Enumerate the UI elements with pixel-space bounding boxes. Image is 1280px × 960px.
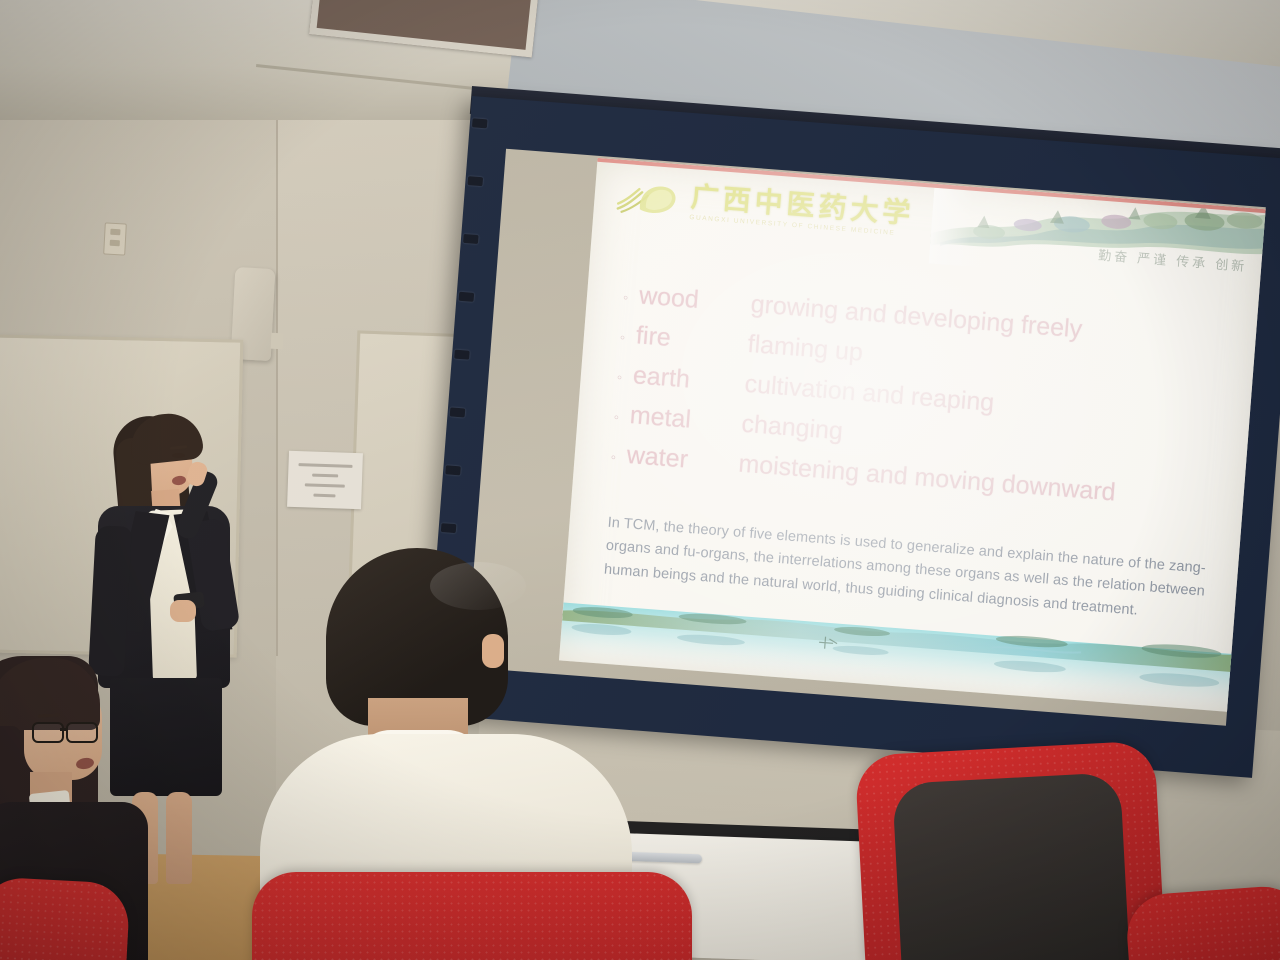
bullet-marker-icon: ◦ (610, 450, 627, 466)
notice-text-line (298, 463, 352, 468)
eyeglass-lens-left (32, 722, 64, 743)
wall-notice-sign (287, 451, 363, 510)
bullet-marker-icon: ◦ (616, 370, 633, 386)
presentation-slide: 广西中医药大学 GUANGXI UNIVERSITY OF CHINESE ME… (559, 158, 1266, 713)
eyeglass-lens-right (66, 722, 98, 743)
slide-header: 广西中医药大学 GUANGXI UNIVERSITY OF CHINESE ME… (591, 162, 1265, 292)
screen-clip (467, 176, 483, 186)
element-term: water (626, 441, 740, 479)
chair-fabric-texture (252, 872, 692, 960)
element-description: cultivation and reaping (744, 370, 996, 418)
element-term: metal (629, 401, 743, 439)
screen-clip (454, 350, 470, 360)
chair-backrest (892, 772, 1130, 960)
screen-clip (450, 407, 466, 417)
swoosh-logo-mark (615, 178, 682, 221)
presenter-eye (172, 453, 185, 458)
hair-highlight (430, 562, 526, 610)
element-term: fire (635, 321, 749, 359)
five-elements-list: ◦ wood growing and developing freely ◦ f… (609, 280, 1245, 527)
bullet-marker-icon: ◦ (622, 290, 639, 306)
screen-clip (463, 234, 479, 244)
element-term: earth (632, 361, 746, 399)
auditorium-chair (252, 872, 692, 960)
bullet-marker-icon: ◦ (613, 410, 630, 426)
screen-clip (459, 292, 475, 302)
notice-text-line (305, 483, 345, 487)
element-description: flaming up (747, 330, 864, 368)
notice-text-line (312, 474, 338, 478)
auditorium-chair (855, 740, 1166, 960)
header-watercolor-banner (928, 188, 1265, 290)
screen-clip (472, 118, 488, 128)
banner-art-svg (928, 188, 1265, 290)
audience-man-ear (482, 634, 504, 668)
bullet-marker-icon: ◦ (619, 330, 636, 346)
eyeglasses (32, 722, 100, 740)
power-outlet (103, 222, 127, 255)
element-description: changing (741, 410, 844, 447)
element-term: wood (638, 281, 752, 319)
speaker-bracket (271, 333, 284, 350)
screen-clip (441, 523, 457, 533)
lecture-room-photo: 广西中医药大学 GUANGXI UNIVERSITY OF CHINESE ME… (0, 0, 1280, 960)
university-logo-block: 广西中医药大学 GUANGXI UNIVERSITY OF CHINESE ME… (615, 177, 915, 238)
screen-clip (445, 465, 461, 475)
presenter-hand-holding-clicker (170, 600, 196, 622)
notice-text-line (313, 494, 335, 498)
